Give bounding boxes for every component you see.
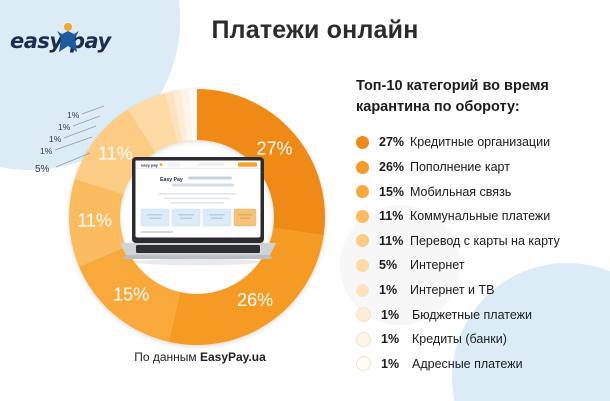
svg-text:Easy Pay: Easy Pay	[160, 177, 183, 183]
legend-item[interactable]: 1%Бюджетные платежи	[356, 302, 606, 327]
legend-color-dot	[356, 234, 369, 247]
legend-percent: 11%	[379, 209, 410, 223]
slice-callout-label: 1%	[40, 146, 52, 156]
legend-label: Интернет и ТВ	[410, 283, 494, 297]
legend-color-dot	[356, 210, 369, 223]
donut-slice-label: 15%	[113, 284, 149, 304]
legend-percent: 11%	[379, 234, 410, 248]
legend-label: Коммунальные платежи	[410, 209, 550, 223]
slice-callout-label: 1%	[67, 110, 79, 120]
legend-color-dot	[356, 284, 369, 297]
legend-color-dot	[356, 356, 371, 371]
svg-text:easy pay: easy pay	[141, 163, 159, 168]
legend-percent: 26%	[379, 160, 410, 174]
slice-callout-label: 1%	[49, 134, 61, 144]
legend-item[interactable]: 1%Интернет и ТВ	[356, 278, 606, 303]
laptop-keyboard	[136, 245, 260, 253]
legend-color-dot	[356, 259, 369, 272]
legend-label: Бюджетные платежи	[412, 308, 532, 322]
legend-color-dot	[356, 185, 369, 198]
legend-percent: 1%	[379, 283, 410, 297]
legend-percent: 5%	[379, 258, 410, 272]
laptop-svg: easy pay Easy Pay	[114, 155, 282, 267]
legend-list: 27%Кредитные организации26%Пополнение ка…	[356, 130, 606, 376]
page-title: Платежи онлайн	[185, 16, 445, 45]
legend-label: Мобильная связь	[410, 185, 511, 199]
legend-item[interactable]: 1%Адресные платежи	[356, 352, 606, 377]
legend-color-dot	[356, 136, 369, 149]
footer-prefix: По данным	[134, 350, 200, 364]
legend-percent: 27%	[379, 135, 410, 149]
legend-label: Адресные платежи	[412, 357, 523, 371]
slice-callout-label: 5%	[35, 164, 49, 175]
legend-item[interactable]: 11%Перевод с карты на карту	[356, 229, 606, 254]
legend-color-dot	[356, 307, 371, 322]
categories-panel: Топ-10 категорий во время карантина по о…	[356, 76, 606, 376]
easypay-logo[interactable]: easy pay	[10, 19, 122, 55]
legend-item[interactable]: 5%Интернет	[356, 253, 606, 278]
legend-percent: 15%	[379, 185, 410, 199]
legend-label: Перевод с карты на карту	[410, 234, 560, 248]
legend-item[interactable]: 27%Кредитные организации	[356, 130, 606, 155]
legend-item[interactable]: 11%Коммунальные платежи	[356, 204, 606, 229]
panel-heading: Топ-10 категорий во время карантина по о…	[356, 76, 606, 117]
legend-label: Пополнение карт	[410, 160, 510, 174]
laptop-illustration: easy pay Easy Pay	[114, 155, 282, 267]
legend-item[interactable]: 15%Мобильная связь	[356, 179, 606, 204]
footer-source: EasyPay.ua	[200, 350, 266, 364]
donut-slice-label: 11%	[77, 211, 112, 231]
infographic-root: easy pay Платежи онлайн 27%26%15%11%11%	[0, 0, 610, 401]
donut-slice-label: 26%	[237, 290, 273, 310]
legend-color-dot	[356, 161, 369, 174]
legend-percent: 1%	[381, 308, 412, 322]
legend-percent: 1%	[381, 357, 412, 371]
legend-item[interactable]: 1%Кредиты (банки)	[356, 327, 606, 352]
legend-label: Кредитные организации	[410, 135, 550, 149]
legend-item[interactable]: 26%Пополнение карт	[356, 155, 606, 180]
legend-color-dot	[356, 332, 371, 347]
source-footer: По данным EasyPay.ua	[60, 350, 340, 364]
legend-label: Кредиты (банки)	[412, 332, 507, 346]
person-star-icon	[55, 21, 81, 55]
legend-label: Интернет	[410, 258, 465, 272]
slice-callout-label: 1%	[58, 122, 70, 132]
legend-percent: 1%	[381, 332, 412, 346]
